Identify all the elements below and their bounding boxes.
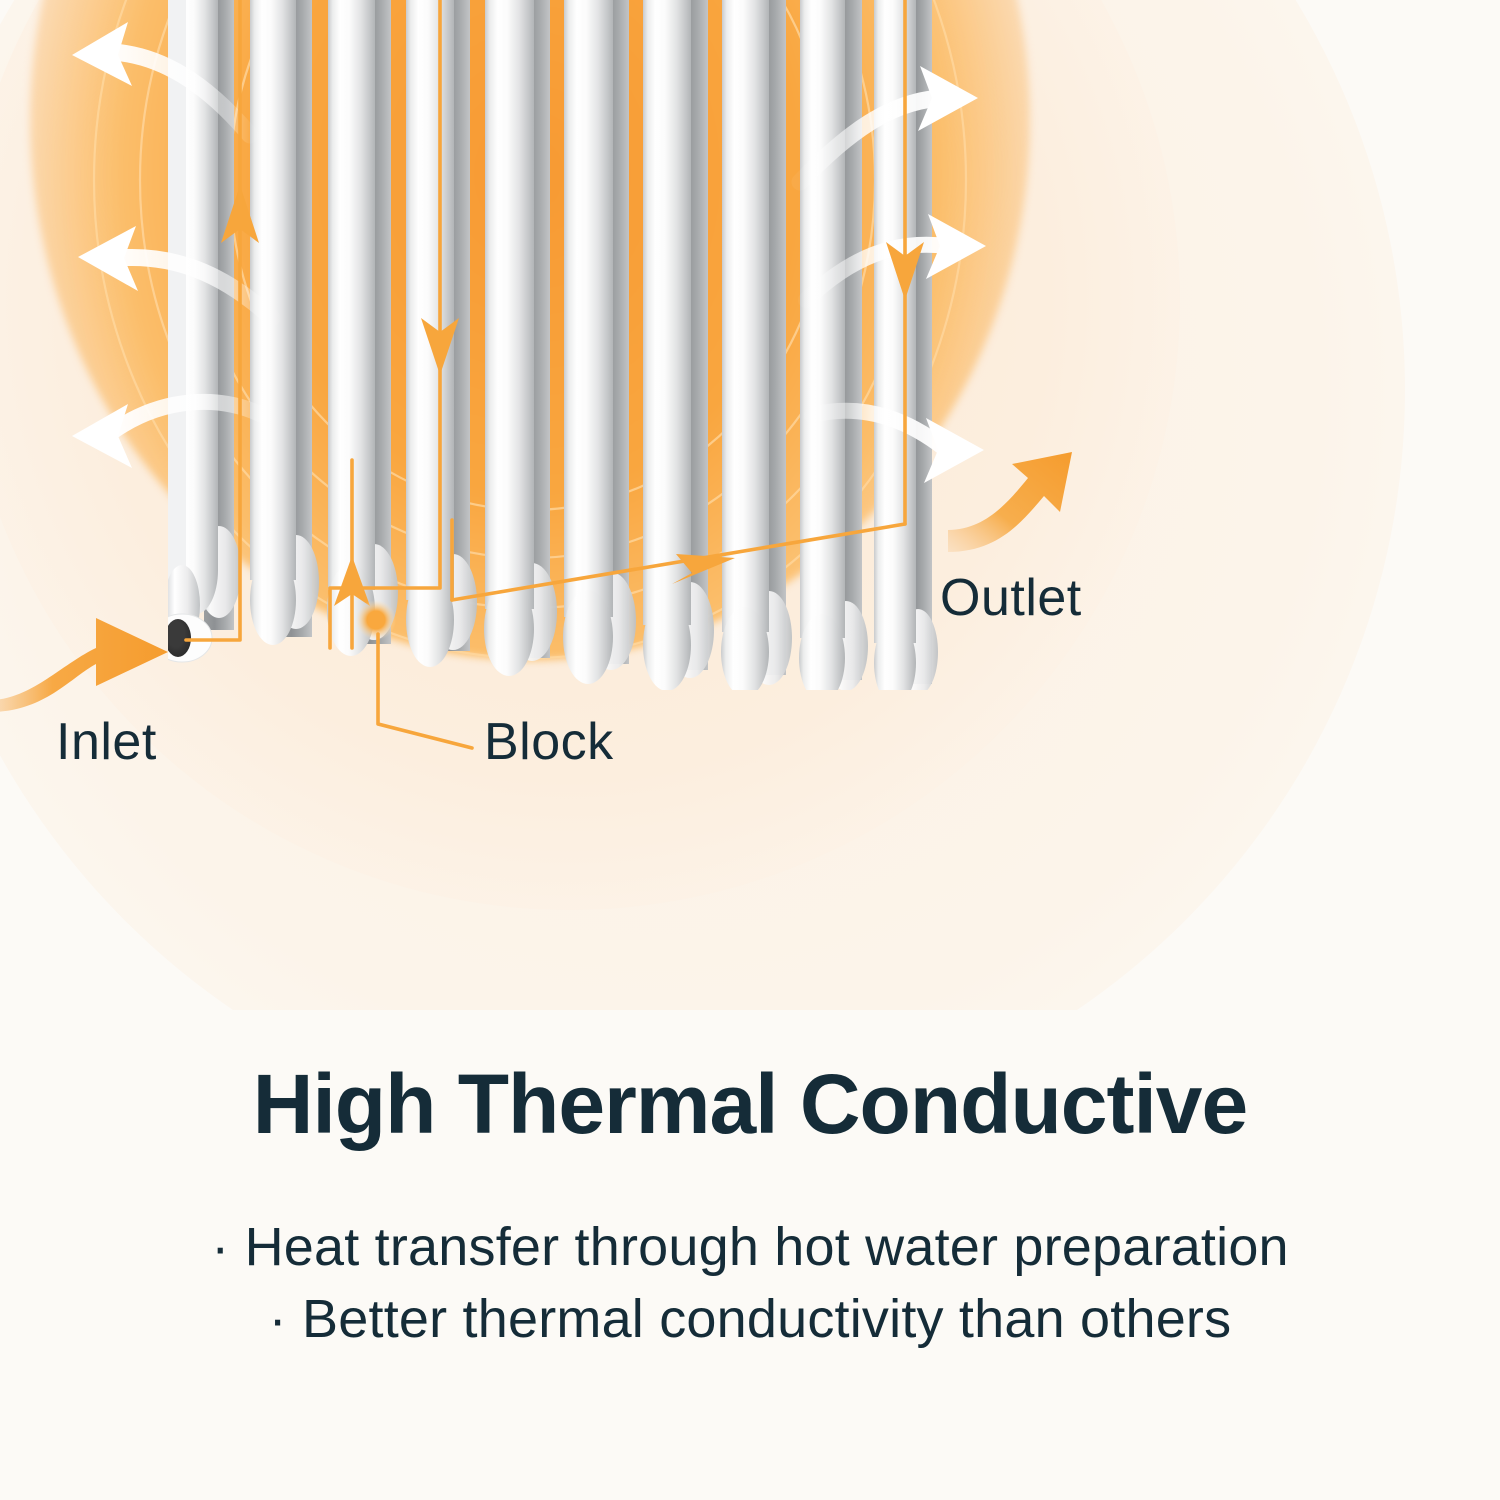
heat-wave-arrows-left xyxy=(72,22,272,468)
diagram-hero: Inlet Block Outlet xyxy=(0,0,1500,1010)
heat-wave-arrows-right xyxy=(800,66,986,483)
flow-and-heat-overlay xyxy=(0,0,1500,1010)
inlet-arrow-icon xyxy=(0,618,168,712)
water-flow-circuit xyxy=(186,0,905,648)
label-inlet: Inlet xyxy=(56,712,157,772)
infographic-root: Inlet Block Outlet High Thermal Conducti… xyxy=(0,0,1500,1500)
outlet-arrow-icon xyxy=(948,452,1072,552)
flow-direction-arrowheads xyxy=(221,185,924,606)
label-outlet: Outlet xyxy=(940,568,1082,628)
feature-bullet: · Better thermal conductivity than other… xyxy=(0,1284,1500,1355)
feature-bullet-list: · Heat transfer through hot water prepar… xyxy=(0,1212,1500,1355)
copy-block: High Thermal Conductive · Heat transfer … xyxy=(0,1010,1500,1355)
label-block: Block xyxy=(484,712,614,772)
block-marker-group xyxy=(356,600,472,748)
feature-bullet: · Heat transfer through hot water prepar… xyxy=(0,1212,1500,1283)
headline: High Thermal Conductive xyxy=(0,1058,1500,1150)
